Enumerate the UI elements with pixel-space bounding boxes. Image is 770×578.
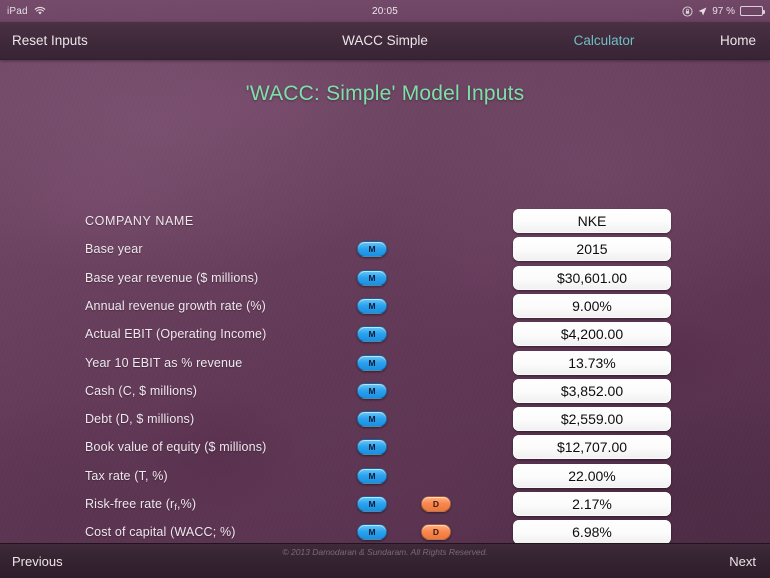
copyright-label: © 2013 Damodaran & Sundaram. All Rights … [282,547,487,557]
status-bar-clock: 20:05 [0,6,770,17]
input-row: Year 10 EBIT as % revenueM13.73% [0,349,770,377]
battery-icon [740,6,763,16]
input-row-label: Actual EBIT (Operating Income) [85,327,266,341]
input-row-label: Annual revenue growth rate (%) [85,299,266,313]
location-arrow-icon [698,7,707,16]
previous-button[interactable]: Previous [12,554,63,569]
detail-button[interactable]: D [421,496,451,512]
input-row: Book value of equity ($ millions)M$12,70… [0,433,770,461]
input-row-label: Risk-free rate (rf,%) [85,497,196,511]
input-row: Annual revenue growth rate (%)M9.00% [0,292,770,320]
navigation-bar: Reset Inputs WACC Simple Calculator Home [0,22,770,60]
input-row-label: Book value of equity ($ millions) [85,440,266,454]
footer-bar: © 2013 Damodaran & Sundaram. All Rights … [0,543,770,578]
input-row-label: COMPANY NAME [85,214,194,228]
next-button[interactable]: Next [729,554,756,569]
memo-button[interactable]: M [357,241,387,257]
input-value-field[interactable]: NKE [513,209,671,233]
reset-inputs-button[interactable]: Reset Inputs [12,33,88,48]
input-row: Cash (C, $ millions)M$3,852.00 [0,377,770,405]
input-value-field[interactable]: 13.73% [513,351,671,375]
input-row-label: Cost of capital (WACC; %) [85,525,236,539]
memo-button[interactable]: M [357,355,387,371]
app-root: iPad 20:05 [0,0,770,578]
input-row: Base year revenue ($ millions)M$30,601.0… [0,264,770,292]
battery-percent-label: 97 % [712,6,735,17]
nav-title: WACC Simple [342,33,428,48]
content-area: 'WACC: Simple' Model Inputs COMPANY NAME… [0,82,770,106]
memo-button[interactable]: M [357,411,387,427]
input-row-label: Base year revenue ($ millions) [85,271,258,285]
input-row-label: Cash (C, $ millions) [85,384,197,398]
rotation-lock-icon [682,6,693,17]
memo-button[interactable]: M [357,439,387,455]
input-row: Actual EBIT (Operating Income)M$4,200.00 [0,320,770,348]
memo-button[interactable]: M [357,496,387,512]
input-value-field[interactable]: $12,707.00 [513,435,671,459]
input-row: Base yearM2015 [0,235,770,263]
memo-button[interactable]: M [357,270,387,286]
input-value-field[interactable]: 2015 [513,237,671,261]
input-value-field[interactable]: $4,200.00 [513,322,671,346]
input-row-label: Tax rate (T, %) [85,469,168,483]
status-bar: iPad 20:05 [0,0,770,22]
memo-button[interactable]: M [357,326,387,342]
input-row-label: Year 10 EBIT as % revenue [85,356,242,370]
input-value-field[interactable]: $2,559.00 [513,407,671,431]
memo-button[interactable]: M [357,298,387,314]
input-value-field[interactable]: $30,601.00 [513,266,671,290]
input-value-field[interactable]: 22.00% [513,464,671,488]
memo-button[interactable]: M [357,524,387,540]
input-value-field[interactable]: 6.98% [513,520,671,544]
input-row-label: Debt (D, $ millions) [85,412,194,426]
input-row: COMPANY NAMENKE [0,207,770,235]
home-button[interactable]: Home [720,33,756,48]
status-bar-right: 97 % [682,6,763,17]
calculator-link[interactable]: Calculator [574,33,635,48]
input-row-label: Base year [85,242,143,256]
input-value-field[interactable]: 2.17% [513,492,671,516]
input-row: Risk-free rate (rf,%)MD2.17% [0,490,770,518]
detail-button[interactable]: D [421,524,451,540]
input-row: Debt (D, $ millions)M$2,559.00 [0,405,770,433]
memo-button[interactable]: M [357,468,387,484]
page-title: 'WACC: Simple' Model Inputs [0,82,770,106]
input-value-field[interactable]: $3,852.00 [513,379,671,403]
input-row: Tax rate (T, %)M22.00% [0,462,770,490]
memo-button[interactable]: M [357,383,387,399]
input-value-field[interactable]: 9.00% [513,294,671,318]
